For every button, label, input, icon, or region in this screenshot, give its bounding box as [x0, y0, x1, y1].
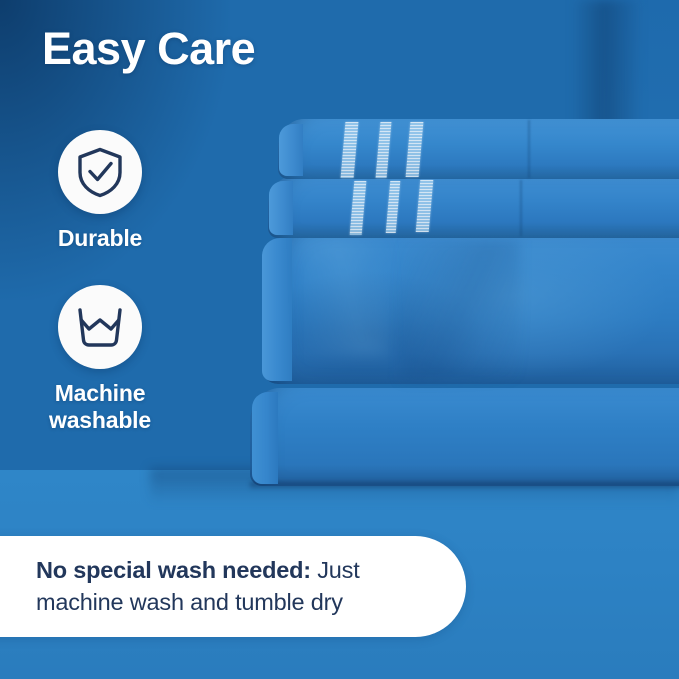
feature-durable-label: Durable	[5, 225, 195, 252]
fabric-crease-shadow	[400, 240, 520, 380]
folded-pillowcase-upper-edge	[279, 124, 303, 176]
fabric-seam	[528, 120, 530, 178]
bottom-banner-text: No special wash needed: Just machine was…	[0, 555, 466, 617]
feature-label-line-1: Machine	[5, 380, 195, 407]
feature-label-line-2: washable	[5, 407, 195, 434]
feature-machine-washable-label: Machine washable	[5, 380, 195, 433]
folded-sheet-bottom	[250, 388, 679, 486]
folded-pillowcase-lower-edge	[269, 181, 293, 235]
feature-machine-washable: Machine washable	[5, 285, 195, 433]
bottom-banner-lead: No special wash needed:	[36, 557, 311, 583]
wash-tub-icon	[58, 285, 142, 369]
product-feature-graphic: Easy Care Durable Machine washable No sp…	[0, 0, 679, 679]
fabric-crease-highlight	[300, 236, 390, 356]
folded-pillowcase-upper	[278, 119, 679, 179]
fabric-seam	[520, 180, 522, 236]
bottom-banner: No special wash needed: Just machine was…	[0, 536, 466, 637]
shield-check-icon	[58, 130, 142, 214]
folded-pillowcase-lower	[268, 176, 679, 238]
folded-sheet-bottom-edge	[252, 392, 278, 484]
page-title: Easy Care	[42, 24, 255, 74]
folded-sheet-middle-edge	[262, 238, 292, 381]
feature-durable: Durable	[5, 130, 195, 252]
